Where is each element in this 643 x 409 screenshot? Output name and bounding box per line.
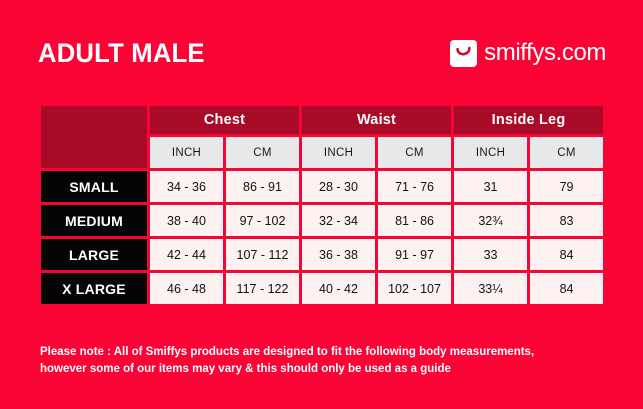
unit-header-waist-inch: INCH (302, 137, 375, 168)
table-row: MEDIUM 38 - 40 97 - 102 32 - 34 81 - 86 … (41, 205, 603, 236)
cell-small-inside-leg-cm: 79 (530, 171, 603, 202)
cell-medium-inside-leg-inch: 32¾ (454, 205, 527, 236)
cell-large-chest-cm: 107 - 112 (226, 239, 299, 270)
footnote-line-2: however some of our items may vary & thi… (40, 361, 600, 378)
unit-header-chest-cm: CM (226, 137, 299, 168)
cell-x-large-waist-inch: 40 - 42 (302, 273, 375, 304)
table-row: SMALL 34 - 36 86 - 91 28 - 30 71 - 76 31… (41, 171, 603, 202)
cell-small-chest-cm: 86 - 91 (226, 171, 299, 202)
table-corner-cell (41, 106, 147, 168)
cell-large-inside-leg-inch: 33 (454, 239, 527, 270)
cell-medium-waist-inch: 32 - 34 (302, 205, 375, 236)
unit-header-chest-inch: INCH (150, 137, 223, 168)
size-label-small: SMALL (41, 171, 147, 202)
cell-x-large-chest-inch: 46 - 48 (150, 273, 223, 304)
table-row: LARGE 42 - 44 107 - 112 36 - 38 91 - 97 … (41, 239, 603, 270)
cell-x-large-waist-cm: 102 - 107 (378, 273, 451, 304)
column-group-inside-leg: Inside Leg (454, 106, 603, 134)
table-row: X LARGE 46 - 48 117 - 122 40 - 42 102 - … (41, 273, 603, 304)
brand-name: smiffys.com (484, 41, 606, 65)
cell-small-inside-leg-inch: 31 (454, 171, 527, 202)
cell-x-large-inside-leg-cm: 84 (530, 273, 603, 304)
size-chart-table: Chest Waist Inside Leg INCH CM INCH CM I… (38, 103, 606, 307)
size-label-medium: MEDIUM (41, 205, 147, 236)
smile-checkmark-icon (450, 40, 477, 67)
footnote-line-1: Please note : All of Smiffys products ar… (40, 344, 600, 361)
column-group-waist: Waist (302, 106, 451, 134)
cell-large-waist-inch: 36 - 38 (302, 239, 375, 270)
size-chart-table-wrapper: Chest Waist Inside Leg INCH CM INCH CM I… (38, 103, 606, 307)
page-header: ADULT MALE smiffys.com (38, 30, 606, 76)
footnote: Please note : All of Smiffys products ar… (40, 344, 600, 377)
page-title: ADULT MALE (38, 40, 205, 67)
column-group-chest: Chest (150, 106, 299, 134)
table-header-row-groups: Chest Waist Inside Leg (41, 106, 603, 134)
unit-header-waist-cm: CM (378, 137, 451, 168)
brand-logo: smiffys.com (450, 40, 606, 67)
cell-small-chest-inch: 34 - 36 (150, 171, 223, 202)
cell-small-waist-cm: 71 - 76 (378, 171, 451, 202)
size-chart-page: ADULT MALE smiffys.com Chest (0, 0, 643, 409)
cell-medium-waist-cm: 81 - 86 (378, 205, 451, 236)
cell-large-waist-cm: 91 - 97 (378, 239, 451, 270)
cell-small-waist-inch: 28 - 30 (302, 171, 375, 202)
cell-large-chest-inch: 42 - 44 (150, 239, 223, 270)
unit-header-inside-leg-cm: CM (530, 137, 603, 168)
cell-medium-inside-leg-cm: 83 (530, 205, 603, 236)
size-label-x-large: X LARGE (41, 273, 147, 304)
unit-header-inside-leg-inch: INCH (454, 137, 527, 168)
cell-medium-chest-cm: 97 - 102 (226, 205, 299, 236)
cell-x-large-inside-leg-inch: 33¼ (454, 273, 527, 304)
size-label-large: LARGE (41, 239, 147, 270)
cell-x-large-chest-cm: 117 - 122 (226, 273, 299, 304)
cell-medium-chest-inch: 38 - 40 (150, 205, 223, 236)
cell-large-inside-leg-cm: 84 (530, 239, 603, 270)
